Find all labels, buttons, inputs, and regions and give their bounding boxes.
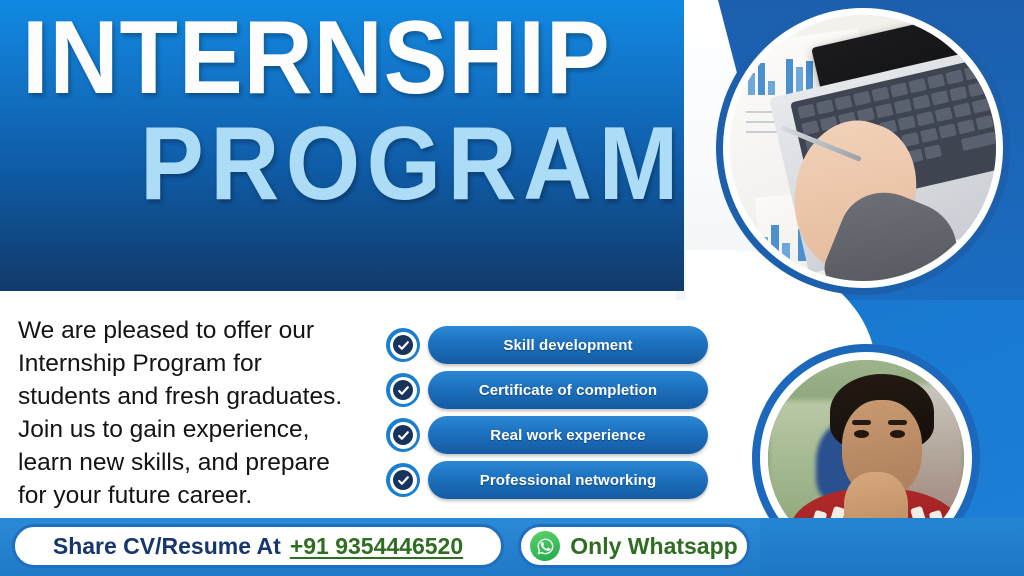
intro-line-2: Internship Program for (18, 347, 380, 380)
whatsapp-label: Only Whatsapp (570, 533, 737, 560)
chart-bar (758, 63, 765, 95)
poster-title-line-1: INTERNSHIP (22, 6, 611, 110)
intro-line-6: for your future career. (18, 479, 380, 512)
feature-label: Real work experience (490, 427, 645, 444)
check-circle-icon (386, 418, 420, 452)
poster-title-line-2: PROGRAM (140, 112, 685, 216)
chart-bar (760, 237, 768, 261)
footer-bar: Share CV/Resume At +91 9354446520 Only W… (0, 518, 1024, 576)
chart-bar (768, 81, 775, 95)
feature-label: Skill development (503, 337, 632, 354)
eye (854, 430, 869, 438)
chart-bar (748, 73, 755, 95)
feature-label: Certificate of completion (479, 382, 657, 399)
contact-phone-number[interactable]: +91 9354446520 (290, 533, 463, 560)
feature-list: Skill development Certificate of complet… (386, 326, 708, 506)
feature-pill[interactable]: Professional networking (428, 461, 708, 499)
check-circle-icon (386, 328, 420, 362)
share-cv-label: Share CV/Resume At (53, 533, 281, 560)
intro-line-1: We are pleased to offer our (18, 314, 380, 347)
whatsapp-icon (530, 531, 560, 561)
intro-line-3: students and fresh graduates. (18, 380, 380, 413)
feature-item-certificate-of-completion[interactable]: Certificate of completion (386, 371, 708, 416)
feature-item-real-work-experience[interactable]: Real work experience (386, 416, 708, 461)
chart-bar (771, 225, 779, 261)
eye (890, 430, 905, 438)
feature-label: Professional networking (480, 472, 657, 489)
chart-bar (786, 59, 793, 95)
share-cv-cta[interactable]: Share CV/Resume At +91 9354446520 (12, 524, 504, 568)
eyebrow (888, 420, 907, 425)
intro-line-4: Join us to gain experience, (18, 413, 380, 446)
eyebrow (852, 420, 871, 425)
check-circle-icon (386, 373, 420, 407)
whatsapp-only-badge[interactable]: Only Whatsapp (518, 524, 750, 568)
feature-pill[interactable]: Real work experience (428, 416, 708, 454)
feature-item-professional-networking[interactable]: Professional networking (386, 461, 708, 506)
feature-item-skill-development[interactable]: Skill development (386, 326, 708, 371)
feature-pill[interactable]: Certificate of completion (428, 371, 708, 409)
check-circle-icon (386, 463, 420, 497)
intro-paragraph: We are pleased to offer our Internship P… (18, 314, 380, 512)
hero-header-block: INTERNSHIP PROGRAM (0, 0, 684, 291)
intro-line-5: learn new skills, and prepare (18, 446, 380, 479)
laptop-workspace-photo (723, 8, 1003, 288)
chart-bar (782, 243, 790, 261)
internship-poster: INTERNSHIP PROGRAM (0, 0, 1024, 576)
laptop-scene (730, 15, 996, 281)
feature-pill[interactable]: Skill development (428, 326, 708, 364)
